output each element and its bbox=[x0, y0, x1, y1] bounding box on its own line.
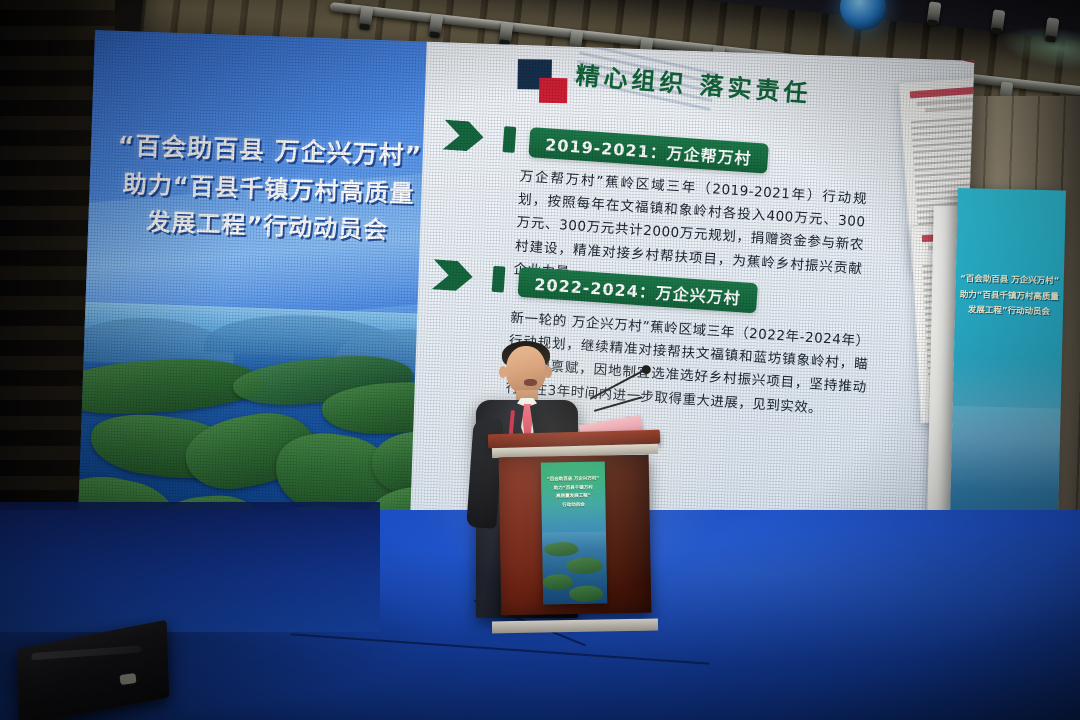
slide-red-square-icon bbox=[539, 78, 567, 103]
speaking-podium: “百会助百县 万企兴万村” 助力“百县千镇万村 高质量发展工程” 行动动员会 bbox=[494, 432, 654, 624]
presenter-ear bbox=[544, 366, 552, 378]
podium-panel-text: “百会助百县 万企兴万村” 助力“百县千镇万村 高质量发展工程” 行动动员会 bbox=[543, 475, 604, 510]
conference-stage-photo: “百会助百县 万企兴万村” 助力“百县千镇万村高质量 发展工程”行动动员会 bbox=[0, 0, 1080, 720]
podium-panel-line4: 行动动员会 bbox=[543, 501, 603, 511]
section-banner-1: 2019-2021：万企帮万村 bbox=[528, 127, 768, 174]
stage-floor-shadow-left bbox=[0, 502, 380, 632]
presenter-head bbox=[506, 346, 546, 394]
podium-panel-lake-photo bbox=[542, 531, 607, 604]
document-subtitle-bar bbox=[925, 104, 975, 112]
document-title-bar bbox=[910, 85, 975, 98]
podium-panel-line1: “百会助百县 万企兴万村” bbox=[543, 475, 603, 485]
presenter-ear bbox=[499, 366, 507, 378]
podium-branding-panel: “百会助百县 万企兴万村” 助力“百县千镇万村 高质量发展工程” 行动动员会 bbox=[541, 461, 607, 604]
green-tick-marker bbox=[492, 266, 506, 293]
green-tick-marker bbox=[503, 126, 517, 153]
green-chevron-icon bbox=[432, 259, 474, 292]
green-chevron-icon bbox=[443, 120, 485, 153]
presenter-mouth bbox=[524, 379, 537, 386]
right-banner-text: “百会助百县 万企兴万村” 助力“百县千镇万村高质量 发展工程”行动动员会 bbox=[959, 272, 1060, 322]
event-title-block: “百会助百县 万企兴万村” 助力“百县千镇万村高质量 发展工程”行动动员会 bbox=[102, 126, 436, 251]
right-banner-line3: 发展工程”行动动员会 bbox=[959, 304, 1059, 322]
